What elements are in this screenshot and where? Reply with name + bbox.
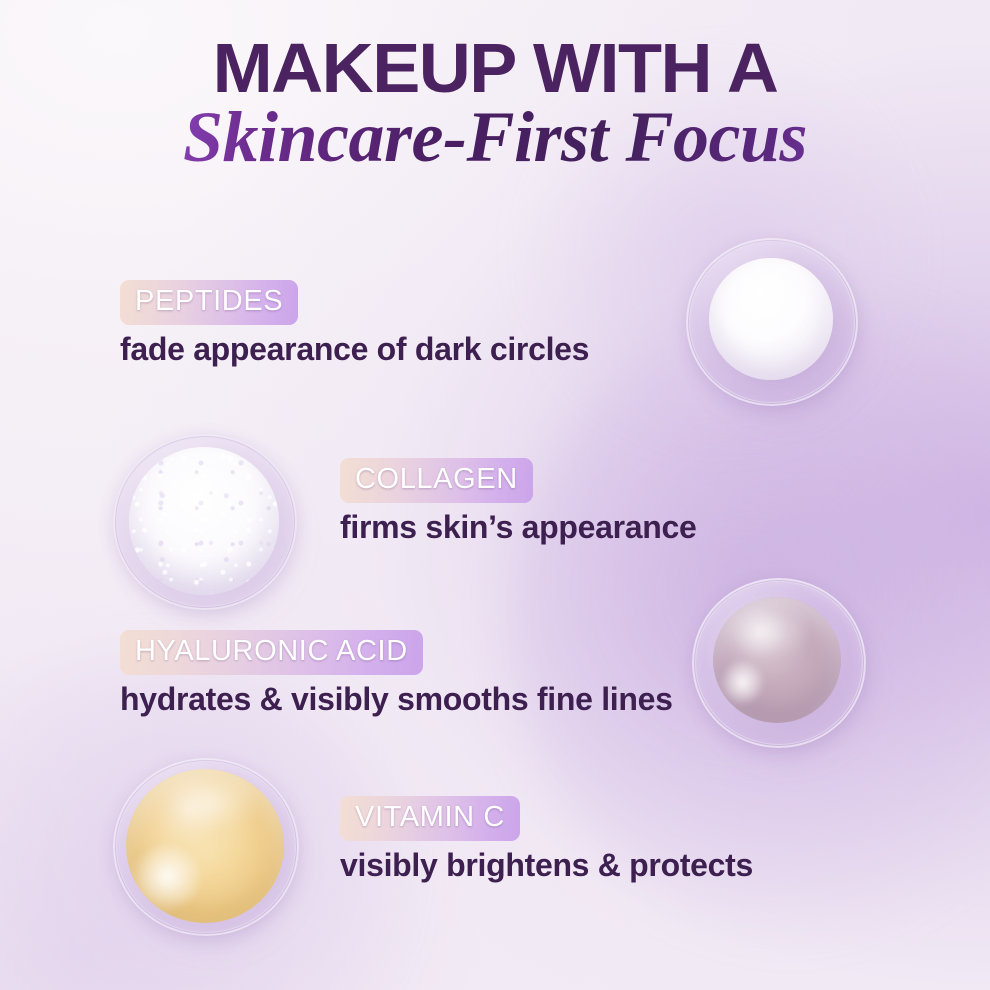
ingredient-benefit-hyaluronic-acid: hydrates & visibly smooths fine lines xyxy=(120,681,673,718)
ingredient-row-hyaluronic-acid: HYALURONIC ACID hydrates & visibly smoot… xyxy=(120,630,673,718)
ingredient-benefit-peptides: fade appearance of dark circles xyxy=(120,331,589,368)
ingredient-label-vitamin-c: VITAMIN C xyxy=(340,796,520,841)
headline-primary: MAKEUP WITH A xyxy=(0,34,990,103)
ingredient-label-hyaluronic-acid: HYALURONIC ACID xyxy=(120,630,423,675)
swatch-content-white-cream xyxy=(709,258,833,380)
swatch-content-mauve-gel xyxy=(713,597,841,723)
ingredient-label-collagen: COLLAGEN xyxy=(340,458,533,503)
ingredient-benefit-vitamin-c: visibly brightens & protects xyxy=(340,847,753,884)
ingredient-row-vitamin-c: VITAMIN C visibly brightens & protects xyxy=(340,796,753,884)
headline-block: MAKEUP WITH A Skincare-First Focus xyxy=(0,34,990,176)
swatch-dish-vitamin-c xyxy=(113,758,299,936)
ingredient-row-collagen: COLLAGEN firms skin’s appearance xyxy=(340,458,697,546)
powder-grain-texture xyxy=(129,447,279,595)
swatch-dish-peptides xyxy=(686,238,858,406)
swatch-content-white-powder xyxy=(129,447,279,595)
gel-specular-highlight xyxy=(721,660,765,705)
poster-canvas: MAKEUP WITH A Skincare-First Focus xyxy=(0,0,990,990)
ingredient-row-peptides: PEPTIDES fade appearance of dark circles xyxy=(120,280,589,368)
headline-script: Skincare-First Focus xyxy=(0,99,990,177)
swatch-content-golden-gel xyxy=(126,769,284,923)
gel-sheen xyxy=(167,775,255,827)
ingredient-label-peptides: PEPTIDES xyxy=(120,280,298,325)
cream-sheen xyxy=(726,270,803,326)
swatch-dish-hyaluronic xyxy=(692,578,866,748)
gel-sheen xyxy=(723,605,807,658)
ingredient-benefit-collagen: firms skin’s appearance xyxy=(340,509,697,546)
swatch-dish-collagen xyxy=(113,434,297,610)
